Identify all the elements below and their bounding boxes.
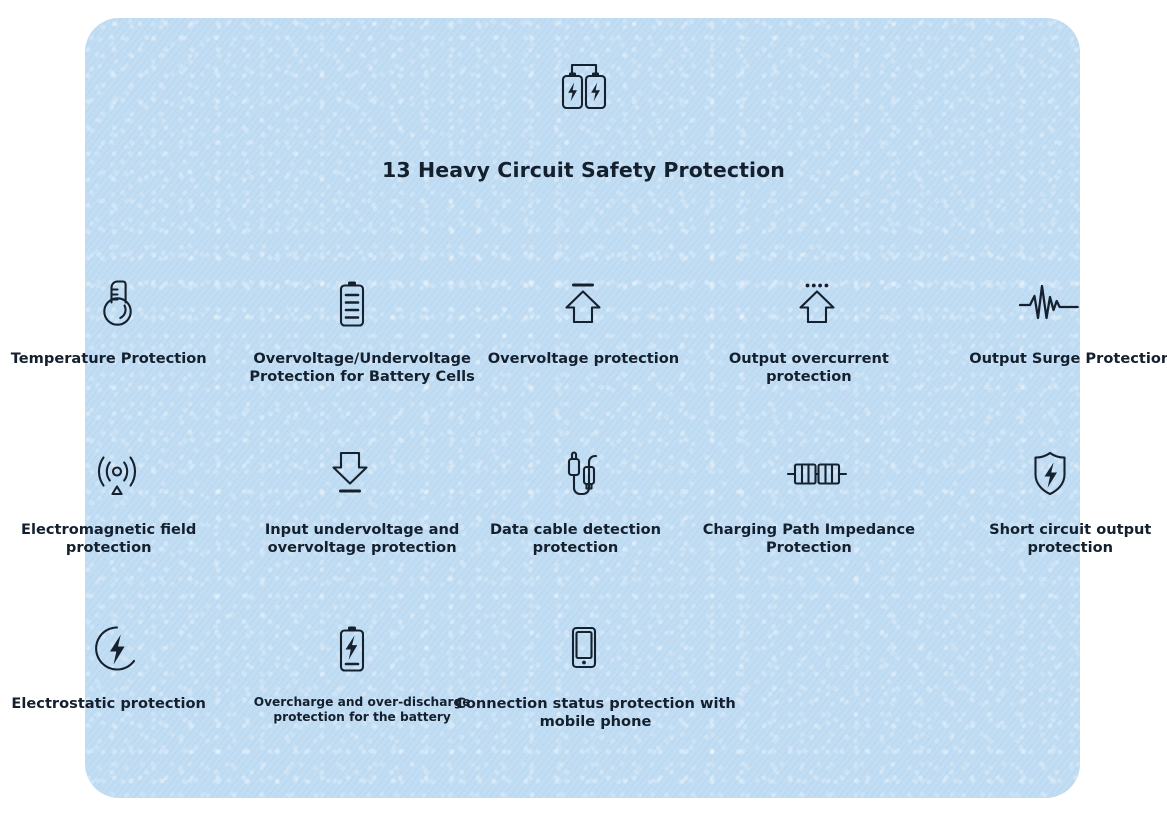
feature-label: Charging Path Impedance Protection xyxy=(703,521,915,557)
dual-battery-charging-icon xyxy=(0,52,1167,116)
mobile-phone-icon xyxy=(559,617,607,679)
feature-cell-overvoltage-undervoltage: Overvoltage/Undervoltage Protection for … xyxy=(233,272,466,386)
up-arrow-dots-icon xyxy=(791,272,843,334)
infographic-stage: 13 Heavy Circuit Safety Protection Tempe… xyxy=(0,0,1167,833)
down-arrow-bar-icon xyxy=(324,443,376,505)
feature-cell-output-overcurrent: Output overcurrent protection xyxy=(700,272,933,386)
feature-row-2: Electromagnetic field protection Input u… xyxy=(0,443,1167,557)
page-title: 13 Heavy Circuit Safety Protection xyxy=(0,158,1167,182)
feature-cell-electromagnetic-field: Electromagnetic field protection xyxy=(0,443,233,557)
feature-cell-input-under-overvoltage: Input undervoltage and overvoltage prote… xyxy=(233,443,466,557)
feature-cell-overvoltage-protection: Overvoltage protection xyxy=(467,272,700,386)
thermometer-bulb-icon xyxy=(89,272,145,334)
circle-bolt-icon xyxy=(89,617,145,679)
feature-label: Input undervoltage and overvoltage prote… xyxy=(265,521,460,557)
feature-cell-empty-2 xyxy=(934,617,1167,731)
surge-waveform-icon xyxy=(1014,272,1086,334)
electromagnetic-field-icon xyxy=(87,443,147,505)
feature-label: Electromagnetic field protection xyxy=(21,521,196,557)
shield-bolt-icon xyxy=(1024,443,1076,505)
feature-label: Output overcurrent protection xyxy=(729,350,889,386)
feature-label: Overvoltage/Undervoltage Protection for … xyxy=(249,350,474,386)
battery-bolt-icon xyxy=(326,617,374,679)
feature-label: Overvoltage protection xyxy=(488,350,679,368)
feature-cell-charging-path-impedance: Charging Path Impedance Protection xyxy=(700,443,933,557)
feature-label: Overcharge and over-discharge protection… xyxy=(254,695,471,725)
feature-label: Temperature Protection xyxy=(11,350,207,368)
feature-cell-data-cable-detection: Data cable detection protection xyxy=(467,443,700,557)
feature-row-3: Electrostatic protection Overcharge and … xyxy=(0,617,1167,731)
impedance-resistor-icon xyxy=(781,443,853,505)
feature-cell-electrostatic-protection: Electrostatic protection xyxy=(0,617,233,731)
battery-level-icon xyxy=(326,272,374,334)
feature-cell-output-surge: Output Surge Protection xyxy=(934,272,1167,386)
data-cable-icon xyxy=(554,443,612,505)
up-arrow-bar-icon xyxy=(557,272,609,334)
feature-label: Short circuit output protection xyxy=(989,521,1151,557)
feature-label: Connection status protection with mobile… xyxy=(455,695,736,731)
feature-label: Output Surge Protection xyxy=(969,350,1167,368)
feature-label: Data cable detection protection xyxy=(490,521,661,557)
feature-row-1: Temperature Protection Overvoltage/Under… xyxy=(0,272,1167,386)
feature-cell-connection-status: Connection status protection with mobile… xyxy=(467,617,700,731)
feature-label: Electrostatic protection xyxy=(11,695,206,713)
feature-temperature-protection: Temperature Protection xyxy=(0,272,233,386)
feature-cell-short-circuit-output: Short circuit output protection xyxy=(934,443,1167,557)
feature-cell-overcharge-overdischarge: Overcharge and over-discharge protection… xyxy=(233,617,466,731)
